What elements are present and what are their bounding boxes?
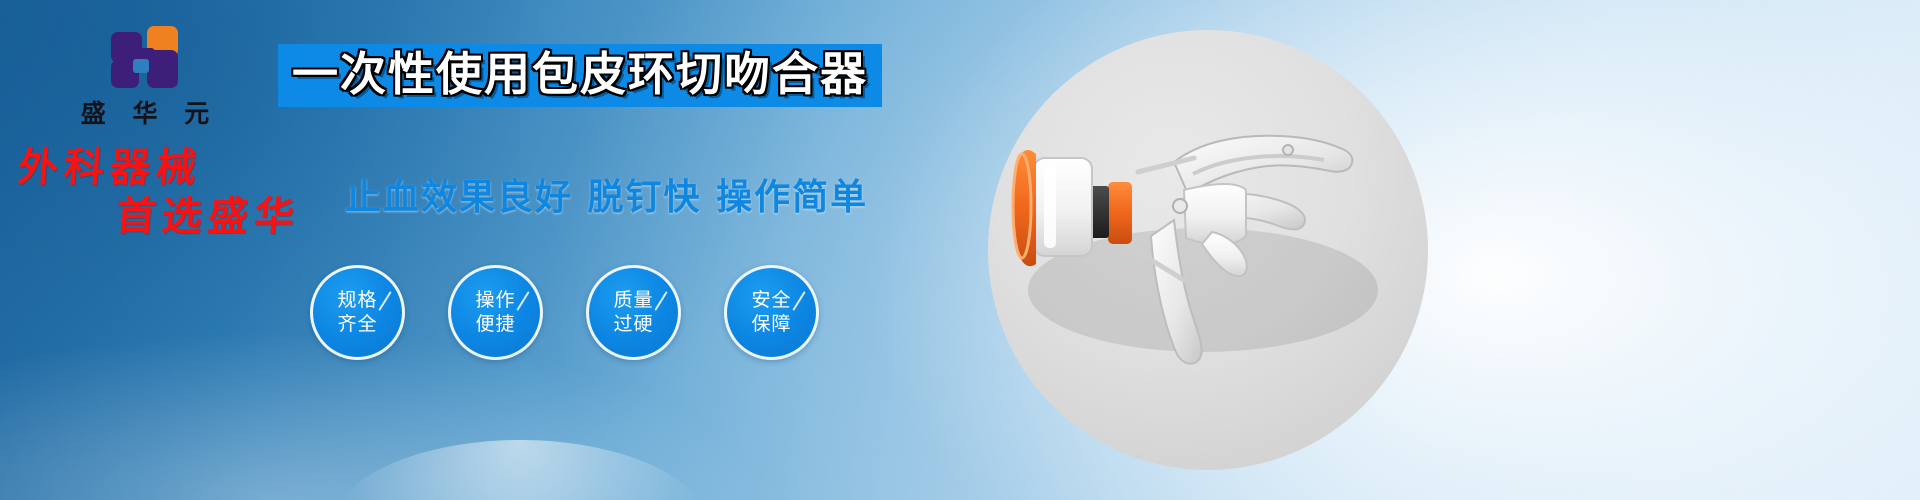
badge-slash-decoration: [378, 291, 391, 311]
feature-label-line-1: 安全: [751, 289, 791, 311]
headline-banner: 一次性使用包皮环切吻合器: [278, 44, 882, 107]
feature-badge-0[interactable]: 规格 齐全: [310, 265, 405, 360]
feature-label-line-2: 齐全: [337, 313, 377, 335]
feature-label-line-2: 便捷: [475, 313, 515, 335]
red-calligraphy-slogan: 外科器械 首选盛华: [18, 148, 348, 238]
stapler-pivot-pin: [1173, 199, 1187, 213]
page-title: 一次性使用包皮环切吻合器: [292, 47, 868, 101]
feature-badge-1[interactable]: 操作 便捷: [448, 265, 543, 360]
logo-notch: [133, 59, 149, 73]
product-photo-circle: [988, 30, 1428, 470]
stapler-orange-band-right: [1108, 182, 1132, 244]
stapler-pin-upper: [1283, 145, 1293, 155]
shenghuayuan-blocks-logo-icon: [111, 26, 179, 88]
badge-slash-decoration: [654, 291, 667, 311]
badge-slash-decoration: [516, 291, 529, 311]
feature-badge-label-2: 质量 过硬: [613, 289, 653, 335]
feature-badge-3[interactable]: 安全 保障: [724, 265, 819, 360]
brand-logo-block[interactable]: 盛 华 元: [60, 26, 230, 130]
feature-badge-2[interactable]: 质量 过硬: [586, 265, 681, 360]
feature-badge-label-3: 安全 保障: [751, 289, 791, 335]
promo-banner: 盛 华 元 外科器械 首选盛华 一次性使用包皮环切吻合器 止血效果良好 脱钉快 …: [0, 0, 1920, 500]
feature-label-line-2: 保障: [751, 313, 791, 335]
stapler-barrel-highlight: [1044, 166, 1056, 248]
background-bottom-arc: [330, 440, 710, 500]
feature-badge-label-1: 操作 便捷: [475, 289, 515, 335]
stapler-upper-arm: [1174, 136, 1352, 194]
badge-slash-decoration: [792, 291, 805, 311]
slogan-line-2: 首选盛华: [114, 197, 350, 238]
feature-label-line-1: 操作: [475, 289, 515, 311]
feature-label-line-1: 质量: [613, 289, 653, 311]
feature-label-line-1: 规格: [337, 289, 377, 311]
brand-name: 盛 华 元: [60, 94, 230, 130]
disposable-circumcision-stapler-icon: [988, 30, 1428, 470]
slogan-line-1: 外科器械: [16, 148, 350, 189]
feature-label-line-2: 过硬: [613, 313, 653, 335]
feature-badges: 规格 齐全 操作 便捷 质量 过硬 安全 保障: [310, 265, 819, 360]
stapler-barrel: [1034, 158, 1092, 256]
feature-badge-label-0: 规格 齐全: [337, 289, 377, 335]
subtitle-text: 止血效果良好 脱钉快 操作简单: [345, 168, 868, 220]
